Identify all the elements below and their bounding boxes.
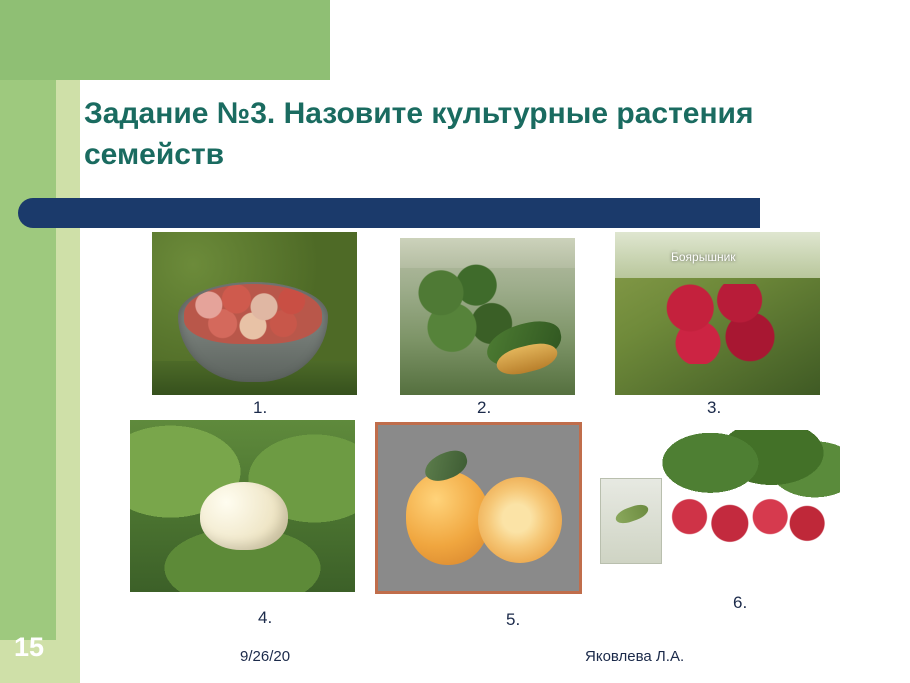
footer-date: 9/26/20 bbox=[240, 648, 290, 665]
image-potato bbox=[400, 238, 575, 395]
caption-4: 4. bbox=[258, 608, 272, 628]
caption-2: 2. bbox=[477, 398, 491, 418]
image-apricot-half bbox=[478, 477, 562, 563]
image-hawthorn: Боярышник bbox=[615, 232, 820, 395]
image-apricot bbox=[375, 422, 582, 594]
image-cauliflower-head bbox=[200, 482, 288, 550]
page-number: 15 bbox=[14, 632, 44, 663]
image-radish-roots bbox=[666, 492, 834, 548]
image-radish-pod bbox=[614, 502, 651, 527]
caption-5: 5. bbox=[506, 610, 520, 630]
image-cauliflower bbox=[130, 420, 355, 592]
page-title: Задание №3. Назовите культурные растения… bbox=[84, 94, 844, 175]
image-radish bbox=[600, 430, 840, 570]
footer-author: Яковлева Л.А. bbox=[585, 648, 684, 665]
caption-6: 6. bbox=[733, 593, 747, 613]
decorative-navy-bar bbox=[18, 198, 760, 228]
image-hawthorn-berries bbox=[659, 284, 789, 364]
image-hawthorn-overlay-label: Боярышник bbox=[671, 250, 736, 264]
image-apples-fruit bbox=[184, 284, 322, 344]
decorative-band-left-pale bbox=[56, 0, 80, 640]
image-apples bbox=[152, 232, 357, 395]
decorative-band-top bbox=[0, 0, 330, 80]
slide: Задание №3. Назовите культурные растения… bbox=[0, 0, 910, 683]
caption-3: 3. bbox=[707, 398, 721, 418]
caption-1: 1. bbox=[253, 398, 267, 418]
image-radish-inset bbox=[600, 478, 662, 564]
